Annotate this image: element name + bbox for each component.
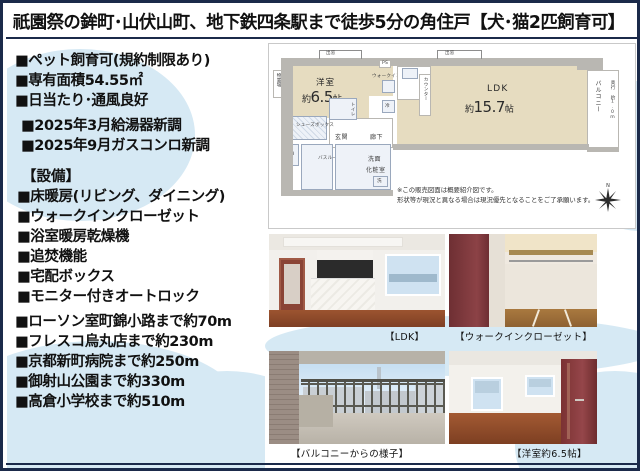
hallway-label: 廊下 [370,132,383,141]
distance-item: ■御射山公園まで約330m [15,372,232,392]
photo-caption-balcony: 【バルコニーからの様子】 [291,446,408,460]
distance-item: ■京都新町病院まで約250m [15,352,232,372]
ldk-label: LDK [487,84,508,94]
equipment-item: ■床暖房(リビング、ダイニング) [17,187,225,207]
photo-wic [449,234,597,327]
equipment-heading: 【設備】 [17,167,225,187]
photo-balcony [269,351,445,444]
balcony-depth-label: 奥行 約1.0m [609,80,615,110]
feature-item: ■専有面積54.55㎡ [15,71,210,91]
entrance-label: 玄関 [335,132,348,141]
photo-bedroom [449,351,597,444]
ldk-size: 約15.7帖 [465,98,513,116]
balcony-label: バルコニー [593,80,602,124]
flyer-page: 祇園祭の鉾町･山伏山町、地下鉄四条駅まで徒歩5分の角住戸【犬･猫2匹飼育可】 ■… [0,0,640,471]
distance-item: ■フレスコ烏丸店まで約230m [15,332,232,352]
window-mark-label: 出窓 [326,50,336,56]
distance-item: ■高倉小学校まで約510m [15,392,232,412]
equipment-item: ■宅配ボックス [17,267,225,287]
washer-label: 洗 [377,178,382,184]
photo-caption-ldk: 【LDK】 [385,329,424,343]
shoe-box-label: シューズボックス [296,122,334,128]
feature-item: ■日当たり･通風良好 [15,91,210,111]
equipment-item: ■追焚機能 [17,247,225,267]
feature-item: ■2025年3月給湯器新調 [21,116,210,136]
washroom-label-2: 化粧室 [366,165,386,174]
toilet-label: トイレ [349,102,355,117]
equipment-item: ■浴室暖房乾燥機 [17,227,225,247]
ps-label: PS [382,61,388,66]
bottom-border [6,463,637,465]
equipment-item: ■ウォークインクローゼット [17,207,225,227]
counter-label: カウンター [422,77,428,103]
window-mark-label: 出窓 [445,50,455,56]
fridge-label: 冷 [385,103,390,109]
equipment-section: 【設備】 ■床暖房(リビング、ダイニング) ■ウォークインクローゼット ■浴室暖… [17,167,225,307]
features-column: ■ペット飼育可(規約制限あり) ■専有面積54.55㎡ ■日当たり･通風良好 ■… [7,41,265,470]
distance-section: ■ローソン室町錦小路まで約70m ■フレスコ烏丸店まで約230m ■京都新町病院… [15,312,232,412]
bathroom-label: バスルーム(1418) [318,156,332,161]
distance-item: ■ローソン室町錦小路まで約70m [15,312,232,332]
disclaimer-line-1: ※この販売図面は概要紹介図です。 [397,186,629,196]
feature-item: ■ペット飼育可(規約制限あり) [15,51,210,71]
floorplan-disclaimer: ※この販売図面は概要紹介図です。 形状等が現況と異なる場合は現況優先となることを… [397,186,629,205]
bedroom-label: 洋室 [316,76,335,88]
photo-caption-wic: 【ウォークインクローゼット】 [455,329,592,343]
feature-item: ■2025年9月ガスコンロ新調 [21,136,210,156]
feature-group-renovation: ■2025年3月給湯器新調 ■2025年9月ガスコンロ新調 [21,116,210,156]
plan-and-photos-column: 出窓 出窓 洋室 約6.5帖 ウォークインクローゼット PS 物置場 アルコーブ [265,41,639,470]
page-title: 祇園祭の鉾町･山伏山町、地下鉄四条駅まで徒歩5分の角住戸【犬･猫2匹飼育可】 [6,9,625,34]
photo-ldk [269,234,445,327]
photo-caption-bedroom: 【洋室約6.5帖】 [512,446,587,460]
wic-label: ウォークインクローゼット [372,74,392,79]
equipment-item: ■モニター付きオートロック [17,287,225,307]
washroom-label: 洗面 [368,154,381,163]
disclaimer-line-2: 形状等が現況と異なる場合は現況優先となることをご了承願います。 [397,196,629,206]
title-bar: 祇園祭の鉾町･山伏山町、地下鉄四条駅まで徒歩5分の角住戸【犬･猫2匹飼育可】 [6,6,637,39]
floorplan: 出窓 出窓 洋室 約6.5帖 ウォークインクローゼット PS 物置場 アルコーブ [268,43,636,229]
feature-group-main: ■ペット飼育可(規約制限あり) ■専有面積54.55㎡ ■日当たり･通風良好 [15,51,210,111]
